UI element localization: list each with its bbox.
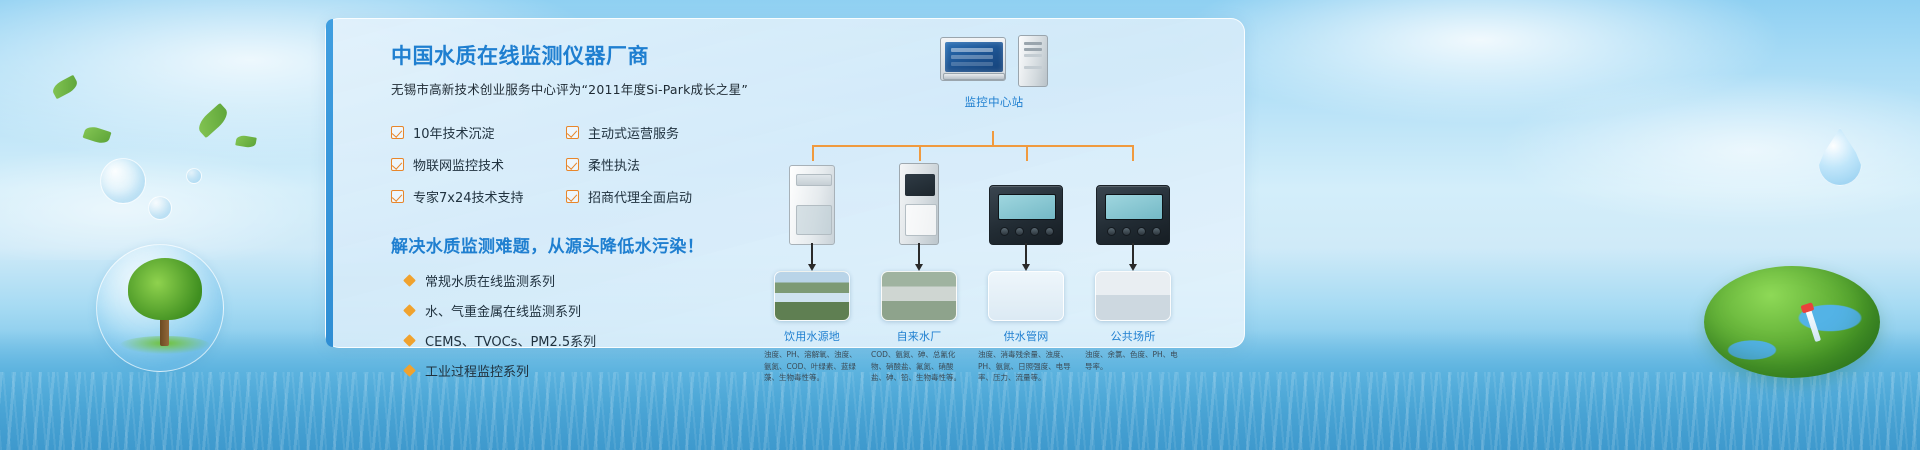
product-line-list: 常规水质在线监测系列 水、气重金属在线监测系列 CEMS、TVOCs、PM2.5… — [391, 271, 781, 380]
diagram-connector-drop — [1132, 145, 1134, 161]
down-arrow-icon — [811, 243, 813, 265]
product-line-item[interactable]: 水、气重金属在线监测系列 — [391, 301, 781, 320]
feature-item[interactable]: 专家7x24技术支持 — [391, 187, 566, 206]
banner-text-column: 中国水质在线监测仪器厂商 无锡市高新技术创业服务中心评为“2011年度Si-Pa… — [391, 43, 781, 391]
scene-description: COD、氨氮、砷、总氰化物、硝酸盐、氟氮、硝酸盐、砷、铅、生物毒性等。 — [869, 349, 969, 384]
down-arrow-icon — [1025, 243, 1027, 265]
page-subtitle: 无锡市高新技术创业服务中心评为“2011年度Si-Park成长之星” — [391, 81, 781, 99]
device-buttons — [1107, 225, 1161, 237]
tree-canopy-icon — [128, 258, 202, 320]
lcd-screen-glyph — [1105, 194, 1163, 220]
diamond-bullet-icon — [403, 364, 416, 377]
scene-caption: 饮用水源地 — [762, 328, 862, 344]
scene-photo — [988, 271, 1064, 321]
feature-item[interactable]: 招商代理全面启动 — [566, 187, 781, 206]
water-globe-icon — [96, 244, 224, 372]
down-arrow-icon — [918, 243, 920, 265]
leaf-icon — [195, 103, 232, 138]
checkbox-icon — [391, 190, 404, 203]
device-icon-wrap — [762, 161, 862, 245]
down-arrow-icon — [1132, 243, 1134, 265]
diagram-branch: 供水管网 浊度、消毒残余量、浊度、PH、氨氮、日照强度、电导率、压力、流量等。 — [976, 161, 1076, 384]
antenna-icon — [1805, 308, 1821, 342]
product-line-label: 水、气重金属在线监测系列 — [425, 301, 581, 320]
checkbox-icon — [566, 126, 579, 139]
leaf-icon — [50, 75, 80, 100]
leaf-icon — [82, 124, 111, 145]
hands-holding-globe — [70, 280, 310, 450]
water-cabinet-device-icon — [789, 165, 835, 245]
device-icon-wrap — [869, 161, 969, 245]
scene-photo — [1095, 271, 1171, 321]
scene-photo — [774, 271, 850, 321]
feature-label: 专家7x24技术支持 — [413, 187, 524, 206]
feature-label: 柔性执法 — [588, 155, 640, 174]
diagram-connector-drop — [919, 145, 921, 161]
bubble-icon — [100, 158, 146, 204]
product-line-item[interactable]: 工业过程监控系列 — [391, 361, 781, 380]
computer-icon — [940, 35, 1048, 87]
product-line-label: 常规水质在线监测系列 — [425, 271, 555, 290]
leaf-icon — [235, 134, 257, 148]
monitoring-system-diagram: 监控中心站 饮用水源地 浊度、PH、溶解氧、浊度、氨氮、COD、叶绿素、蓝绿藻、… — [756, 35, 1226, 340]
scene-description: 浊度、余氯、色度、PH、电导率。 — [1083, 349, 1183, 372]
diamond-bullet-icon — [403, 334, 416, 347]
screen-glyph — [945, 42, 1003, 72]
scene-description: 浊度、消毒残余量、浊度、PH、氨氮、日照强度、电导率、压力、流量等。 — [976, 349, 1076, 384]
checkbox-icon — [391, 158, 404, 171]
tree-trunk — [160, 312, 169, 346]
banner-panel: 中国水质在线监测仪器厂商 无锡市高新技术创业服务中心评为“2011年度Si-Pa… — [325, 18, 1245, 348]
product-line-item[interactable]: CEMS、TVOCs、PM2.5系列 — [391, 331, 781, 350]
keyboard-icon — [943, 73, 1005, 80]
device-buttons — [1000, 225, 1054, 237]
monitor-icon — [940, 37, 1006, 81]
scene-caption: 公共场所 — [1083, 328, 1183, 344]
analyzer-rack-device-icon — [899, 163, 939, 245]
checkbox-icon — [566, 158, 579, 171]
device-icon-wrap — [1083, 161, 1183, 245]
product-line-label: 工业过程监控系列 — [425, 361, 529, 380]
feature-item[interactable]: 柔性执法 — [566, 155, 781, 174]
controller-device-icon — [989, 185, 1063, 245]
diagram-branch: 自来水厂 COD、氨氮、砷、总氰化物、硝酸盐、氟氮、硝酸盐、砷、铅、生物毒性等。 — [869, 161, 969, 384]
scene-photo — [881, 271, 957, 321]
green-earth-icon — [1704, 262, 1880, 378]
diagram-connector-stem — [992, 131, 994, 146]
page-title: 中国水质在线监测仪器厂商 — [391, 43, 781, 70]
lcd-screen-glyph — [998, 194, 1056, 220]
controller-device-icon — [1096, 185, 1170, 245]
feature-item[interactable]: 主动式运营服务 — [566, 123, 781, 142]
water-droplet-icon — [1818, 128, 1862, 186]
feature-item[interactable]: 10年技术沉淀 — [391, 123, 566, 142]
feature-label: 10年技术沉淀 — [413, 123, 495, 142]
diamond-bullet-icon — [403, 304, 416, 317]
product-line-item[interactable]: 常规水质在线监测系列 — [391, 271, 781, 290]
checkbox-icon — [391, 126, 404, 139]
feature-list: 10年技术沉淀 主动式运营服务 物联网监控技术 柔性执法 专家7x24技术支持 … — [391, 123, 781, 206]
bubble-icon — [148, 196, 172, 220]
diagram-connector-drop — [812, 145, 814, 161]
device-icon-wrap — [976, 161, 1076, 245]
scene-caption: 供水管网 — [976, 328, 1076, 344]
checkbox-icon — [566, 190, 579, 203]
monitoring-center-node: 监控中心站 — [934, 35, 1054, 110]
scene-description: 浊度、PH、溶解氧、浊度、氨氮、COD、叶绿素、蓝绿藻、生物毒性等。 — [762, 349, 862, 384]
bubble-icon — [186, 168, 202, 184]
diagram-connector-drop — [1026, 145, 1028, 161]
pc-tower-icon — [1018, 35, 1048, 87]
panel-accent-bar — [326, 19, 333, 347]
diamond-bullet-icon — [403, 274, 416, 287]
section-heading: 解决水质监测难题，从源头降低水污染！ — [391, 232, 781, 257]
feature-label: 招商代理全面启动 — [588, 187, 692, 206]
globe-ground — [120, 336, 210, 354]
diagram-connector-bus — [812, 145, 1132, 147]
feature-item[interactable]: 物联网监控技术 — [391, 155, 566, 174]
feature-label: 主动式运营服务 — [588, 123, 679, 142]
diagram-branch: 公共场所 浊度、余氯、色度、PH、电导率。 — [1083, 161, 1183, 372]
monitoring-center-label: 监控中心站 — [934, 94, 1054, 110]
product-line-label: CEMS、TVOCs、PM2.5系列 — [425, 331, 596, 350]
feature-label: 物联网监控技术 — [413, 155, 504, 174]
diagram-branch: 饮用水源地 浊度、PH、溶解氧、浊度、氨氮、COD、叶绿素、蓝绿藻、生物毒性等。 — [762, 161, 862, 384]
scene-caption: 自来水厂 — [869, 328, 969, 344]
